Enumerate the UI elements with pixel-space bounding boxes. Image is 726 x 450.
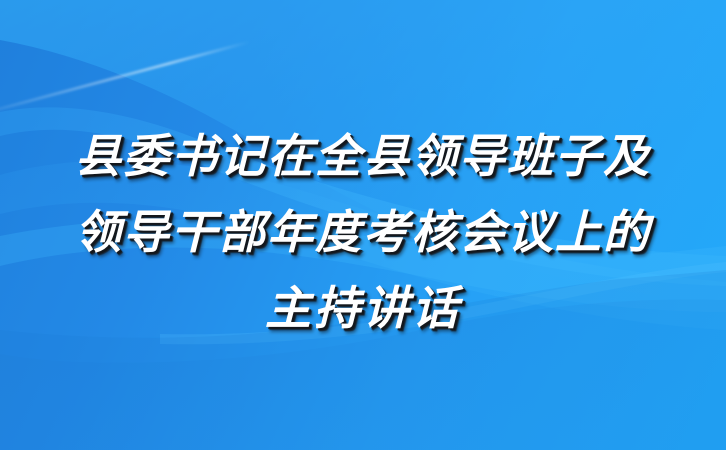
title-line-3: 主持讲话: [265, 270, 461, 346]
title-line-2: 领导干部年度考核会议上的: [75, 194, 651, 270]
title-line-1: 县委书记在全县领导班子及: [75, 118, 651, 194]
banner-title: 县委书记在全县领导班子及 领导干部年度考核会议上的 主持讲话: [0, 0, 726, 450]
title-banner: 县委书记在全县领导班子及 领导干部年度考核会议上的 主持讲话: [0, 0, 726, 450]
